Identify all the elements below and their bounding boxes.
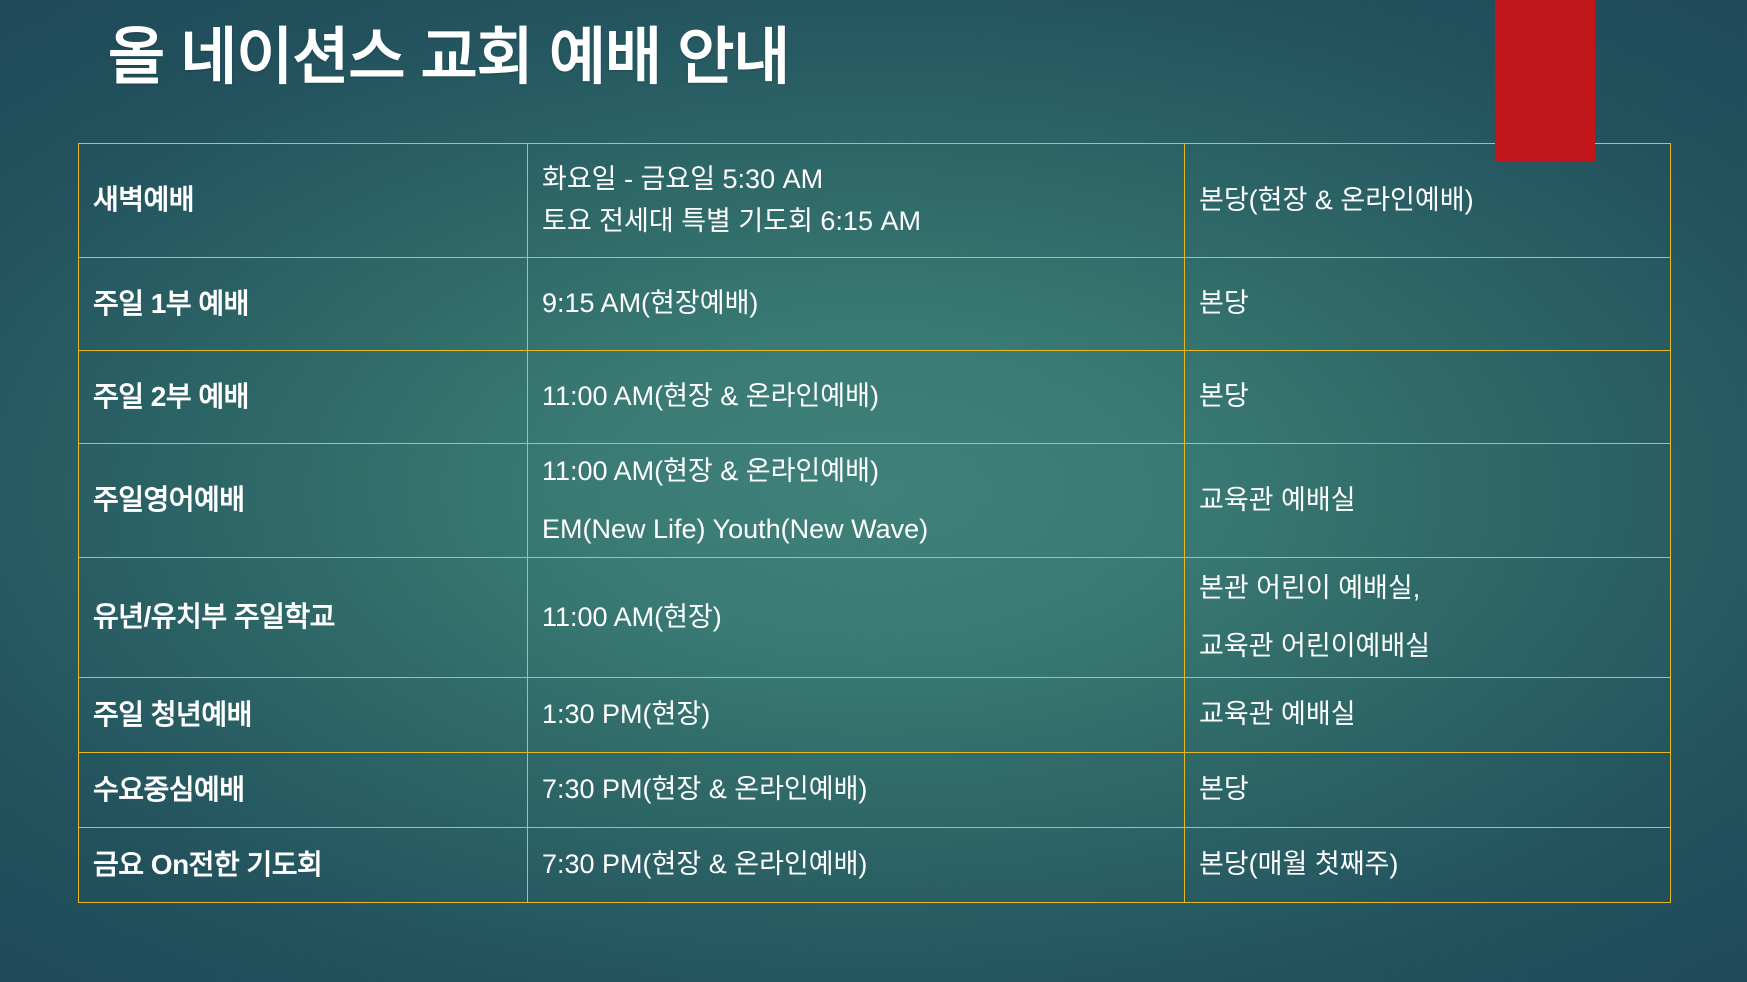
service-time-cell: 11:00 AM(현장) xyxy=(528,558,1185,678)
place-line: 본당(매월 첫째주) xyxy=(1199,847,1656,883)
service-place-cell: 본당(매월 첫째주) xyxy=(1185,828,1671,903)
table-row: 유년/유치부 주일학교 11:00 AM(현장) 본관 어린이 예배실, 교육관… xyxy=(79,558,1671,678)
place-line: 본관 어린이 예배실, xyxy=(1199,571,1656,607)
service-place-cell: 본관 어린이 예배실, 교육관 어린이예배실 xyxy=(1185,558,1671,678)
table-row: 주일 2부 예배 11:00 AM(현장 & 온라인예배) 본당 xyxy=(79,351,1671,444)
table-row: 주일 1부 예배 9:15 AM(현장예배) 본당 xyxy=(79,258,1671,351)
service-name-cell: 금요 On전한 기도회 xyxy=(79,828,528,903)
table-row: 주일 청년예배 1:30 PM(현장) 교육관 예배실 xyxy=(79,678,1671,753)
service-name-cell: 유년/유치부 주일학교 xyxy=(79,558,528,678)
time-line: 1:30 PM(현장) xyxy=(542,697,1170,733)
time-line: 화요일 - 금요일 5:30 AM xyxy=(542,162,1170,198)
schedule-table-body: 새벽예배 화요일 - 금요일 5:30 AM 토요 전세대 특별 기도회 6:1… xyxy=(79,144,1671,903)
time-line: 7:30 PM(현장 & 온라인예배) xyxy=(542,772,1170,808)
service-time-cell: 화요일 - 금요일 5:30 AM 토요 전세대 특별 기도회 6:15 AM xyxy=(528,144,1185,258)
service-place-cell: 교육관 예배실 xyxy=(1185,678,1671,753)
time-line: 7:30 PM(현장 & 온라인예배) xyxy=(542,847,1170,883)
place-line: 교육관 예배실 xyxy=(1199,697,1656,733)
place-line: 본당 xyxy=(1199,379,1656,415)
time-line: 9:15 AM(현장예배) xyxy=(542,286,1170,322)
service-time-cell: 7:30 PM(현장 & 온라인예배) xyxy=(528,828,1185,903)
place-line: 교육관 예배실 xyxy=(1199,483,1656,519)
page-title: 올 네이션스 교회 예배 안내 xyxy=(108,22,789,93)
service-place-cell: 본당 xyxy=(1185,351,1671,444)
worship-schedule-table: 새벽예배 화요일 - 금요일 5:30 AM 토요 전세대 특별 기도회 6:1… xyxy=(78,143,1671,903)
place-line: 본당(현장 & 온라인예배) xyxy=(1199,183,1656,219)
place-line: 본당 xyxy=(1199,772,1656,808)
place-line: 본당 xyxy=(1199,286,1656,322)
service-name-cell: 주일 2부 예배 xyxy=(79,351,528,444)
service-name-cell: 수요중심예배 xyxy=(79,753,528,828)
service-name-cell: 주일영어예배 xyxy=(79,444,528,558)
service-time-cell: 7:30 PM(현장 & 온라인예배) xyxy=(528,753,1185,828)
service-name-cell: 주일 1부 예배 xyxy=(79,258,528,351)
service-place-cell: 본당 xyxy=(1185,258,1671,351)
service-name-cell: 새벽예배 xyxy=(79,144,528,258)
time-line: 11:00 AM(현장 & 온라인예배) xyxy=(542,454,1170,490)
service-name-cell: 주일 청년예배 xyxy=(79,678,528,753)
table-row: 새벽예배 화요일 - 금요일 5:30 AM 토요 전세대 특별 기도회 6:1… xyxy=(79,144,1671,258)
time-line: 11:00 AM(현장) xyxy=(542,600,1170,636)
presentation-slide: 올 네이션스 교회 예배 안내 새벽예배 화요일 - 금요일 5:30 AM 토… xyxy=(0,0,1747,982)
table-row: 수요중심예배 7:30 PM(현장 & 온라인예배) 본당 xyxy=(79,753,1671,828)
service-place-cell: 본당(현장 & 온라인예배) xyxy=(1185,144,1671,258)
service-time-cell: 11:00 AM(현장 & 온라인예배) EM(New Life) Youth(… xyxy=(528,444,1185,558)
table-row: 주일영어예배 11:00 AM(현장 & 온라인예배) EM(New Life)… xyxy=(79,444,1671,558)
time-line: 11:00 AM(현장 & 온라인예배) xyxy=(542,379,1170,415)
service-time-cell: 1:30 PM(현장) xyxy=(528,678,1185,753)
red-accent-banner xyxy=(1495,0,1595,162)
service-place-cell: 교육관 예배실 xyxy=(1185,444,1671,558)
service-time-cell: 11:00 AM(현장 & 온라인예배) xyxy=(528,351,1185,444)
service-place-cell: 본당 xyxy=(1185,753,1671,828)
time-line: 토요 전세대 특별 기도회 6:15 AM xyxy=(542,204,1170,240)
place-line: 교육관 어린이예배실 xyxy=(1199,629,1656,665)
time-line: EM(New Life) Youth(New Wave) xyxy=(542,512,1170,548)
service-time-cell: 9:15 AM(현장예배) xyxy=(528,258,1185,351)
table-row: 금요 On전한 기도회 7:30 PM(현장 & 온라인예배) 본당(매월 첫째… xyxy=(79,828,1671,903)
